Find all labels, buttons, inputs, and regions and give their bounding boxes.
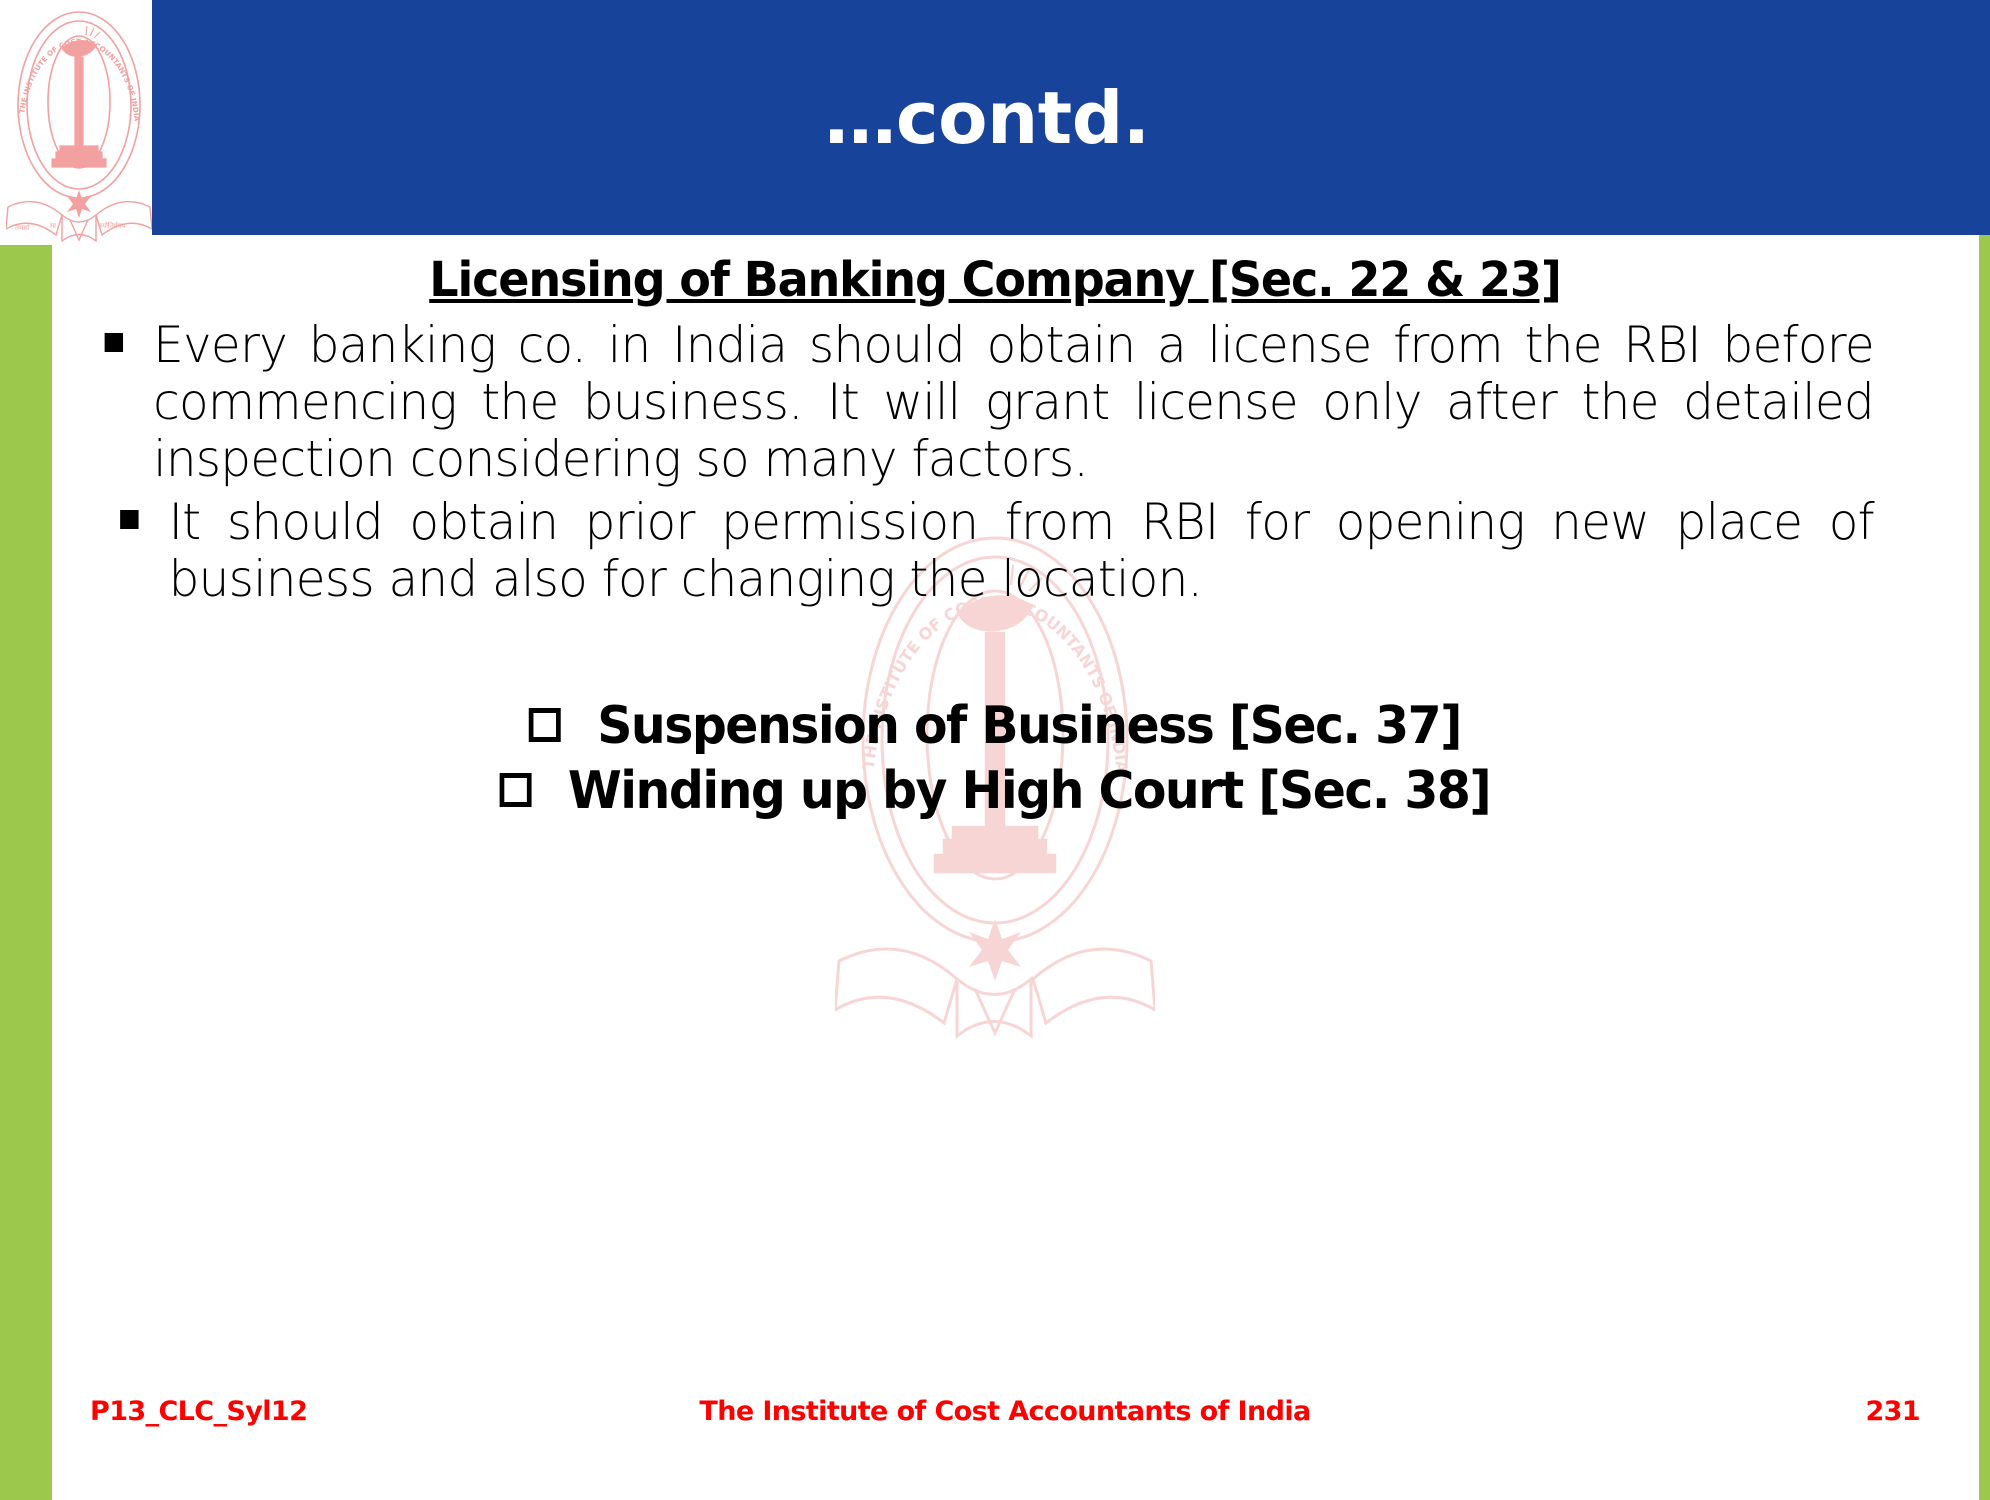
hollow-square-bullet-icon xyxy=(500,773,532,807)
slide-footer: P13_CLC_Syl12 The Institute of Cost Acco… xyxy=(90,1396,1920,1440)
list-item: It should obtain prior permission from R… xyxy=(60,494,1874,608)
square-bullet-icon xyxy=(105,333,123,352)
institute-logo-icon: THE INSTITUTE OF COST ACCOUNTANTS OF IND… xyxy=(6,2,152,242)
checkbox-list-item: Winding up by High Court [Sec. 38] xyxy=(116,759,1874,824)
list-item-text: It should obtain prior permission from R… xyxy=(169,493,1874,608)
checkbox-list: Suspension of Business [Sec. 37] Winding… xyxy=(60,694,1930,824)
svg-text:ज्योतिर्गमय: ज्योतिर्गमय xyxy=(98,221,127,230)
slide-number: 231 xyxy=(1865,1396,1920,1427)
list-item: Every banking co. in India should obtain… xyxy=(60,317,1874,488)
bullet-list: Every banking co. in India should obtain… xyxy=(60,317,1930,608)
hollow-square-bullet-icon xyxy=(529,708,561,742)
list-item-text: Every banking co. in India should obtain… xyxy=(153,316,1874,488)
svg-text:तमसो: तमसो xyxy=(15,223,30,232)
slide-canvas: THE INSTITUTE OF COST ACCOUNTANTS OF IND… xyxy=(0,0,1990,1500)
section-heading: Licensing of Banking Company [Sec. 22 & … xyxy=(97,255,1892,305)
footer-organisation: The Institute of Cost Accountants of Ind… xyxy=(90,1396,1920,1427)
checkbox-item-text: Suspension of Business [Sec. 37] xyxy=(597,696,1461,756)
checkbox-list-item: Suspension of Business [Sec. 37] xyxy=(116,694,1874,759)
left-accent-bar xyxy=(0,245,52,1500)
slide-title: …contd. xyxy=(152,0,1822,235)
slide-body: Licensing of Banking Company [Sec. 22 & … xyxy=(60,255,1930,1345)
svg-text:मा: मा xyxy=(50,222,56,230)
checkbox-item-text: Winding up by High Court [Sec. 38] xyxy=(568,761,1490,821)
square-bullet-icon xyxy=(120,510,138,529)
